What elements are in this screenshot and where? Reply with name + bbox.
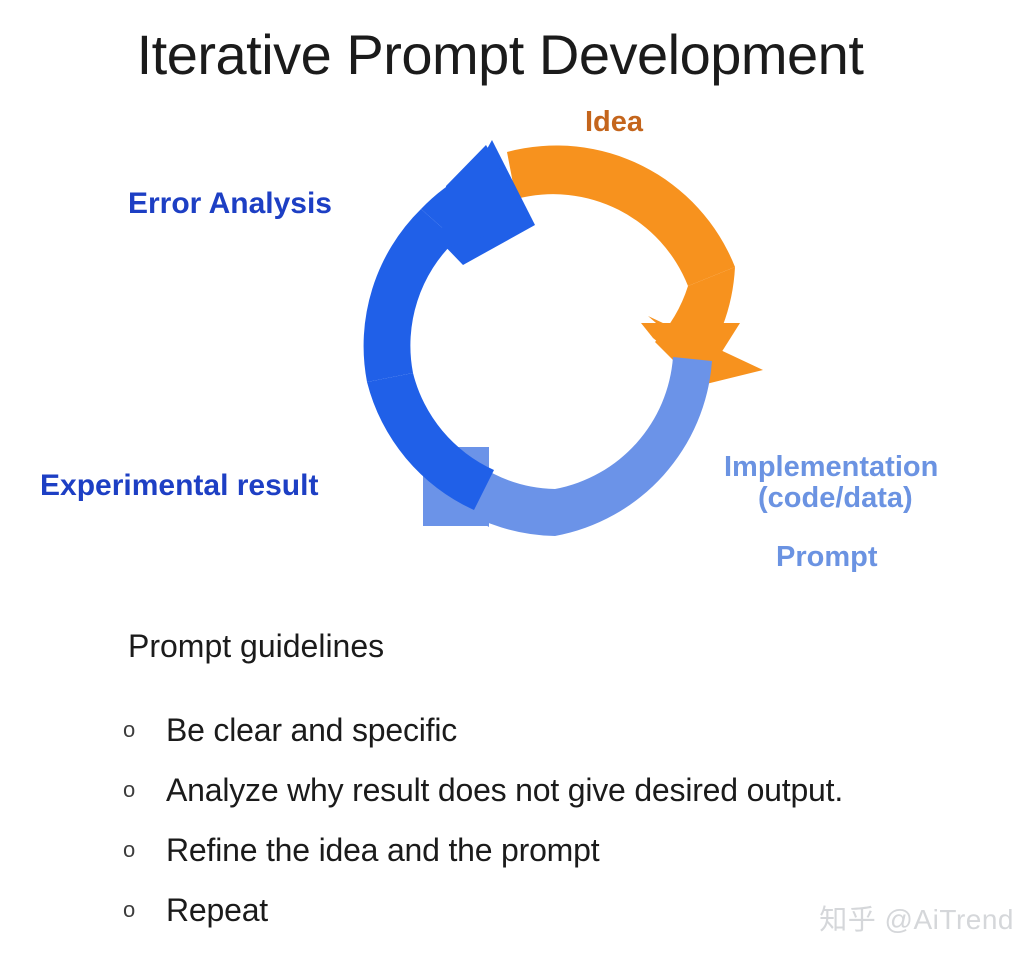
list-item: oRepeat bbox=[118, 880, 843, 940]
list-item-label: Repeat bbox=[166, 892, 268, 929]
guidelines-list: oBe clear and specificoAnalyze why resul… bbox=[118, 700, 843, 940]
bullet-circle-icon: o bbox=[118, 899, 166, 921]
list-item-label: Refine the idea and the prompt bbox=[166, 832, 599, 869]
error-analysis-arrow bbox=[364, 140, 535, 510]
list-item: oRefine the idea and the prompt bbox=[118, 820, 843, 880]
bullet-circle-icon: o bbox=[118, 839, 166, 861]
cycle-label-prompt: Prompt bbox=[776, 542, 878, 573]
guidelines-heading: Prompt guidelines bbox=[128, 628, 384, 665]
watermark: 知乎 @AiTrend bbox=[819, 898, 1014, 938]
implementation-arrow bbox=[423, 357, 712, 536]
list-item: oBe clear and specific bbox=[118, 700, 843, 760]
page-title: Iterative Prompt Development bbox=[0, 22, 1000, 87]
list-item: oAnalyze why result does not give desire… bbox=[118, 760, 843, 820]
cycle-diagram-svg bbox=[0, 90, 1032, 610]
iterative-cycle-diagram: Idea Error Analysis Experimental result … bbox=[0, 90, 1032, 610]
bullet-circle-icon: o bbox=[118, 779, 166, 801]
cycle-label-error-analysis: Error Analysis bbox=[128, 188, 332, 220]
list-item-label: Analyze why result does not give desired… bbox=[166, 772, 843, 809]
cycle-label-implementation-line2: (code/data) bbox=[724, 483, 938, 514]
slide-canvas: Iterative Prompt Development bbox=[0, 0, 1032, 962]
bullet-circle-icon: o bbox=[118, 719, 166, 741]
cycle-label-implementation: Implementation(code/data) bbox=[724, 452, 938, 513]
cycle-label-implementation-line1: Implementation bbox=[724, 451, 938, 483]
cycle-label-experimental-result: Experimental result bbox=[40, 470, 318, 502]
list-item-label: Be clear and specific bbox=[166, 712, 457, 749]
idea-arrow bbox=[507, 146, 763, 386]
cycle-label-idea: Idea bbox=[585, 107, 643, 138]
